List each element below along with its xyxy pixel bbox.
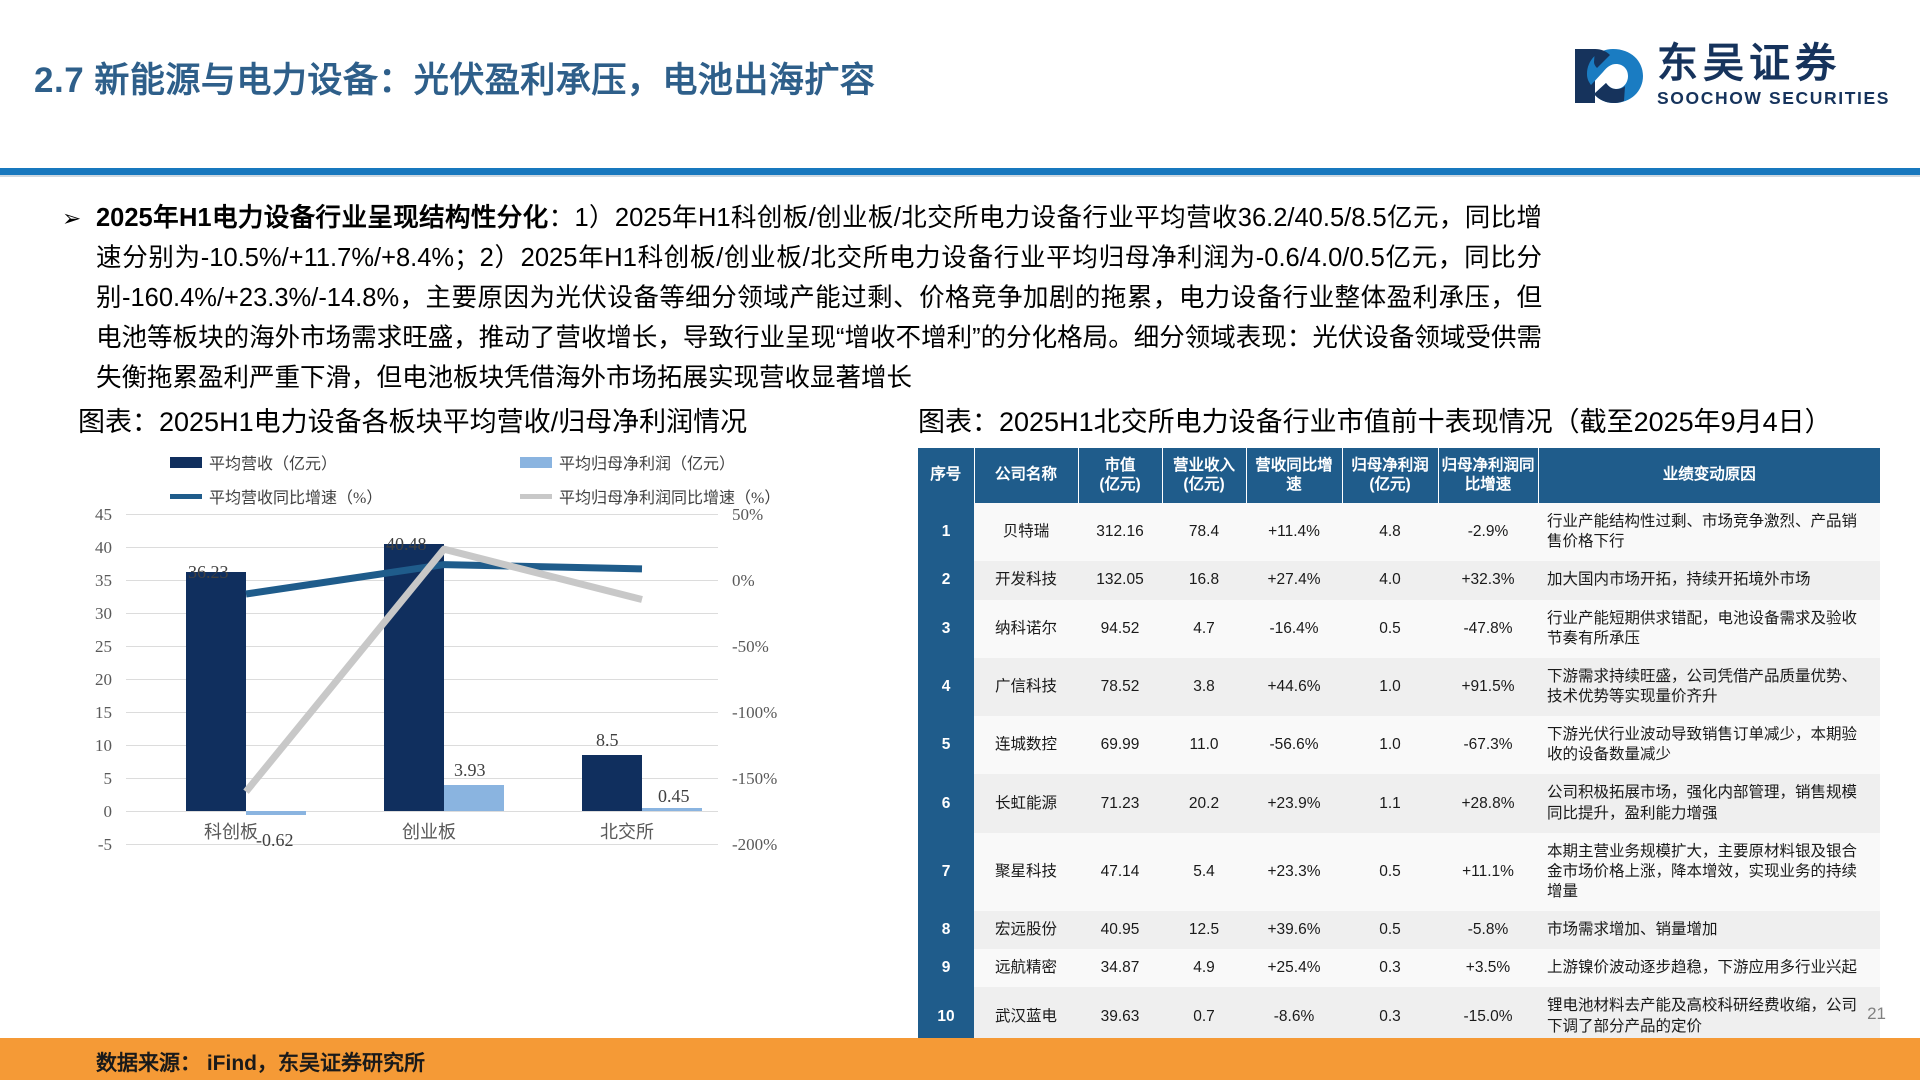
header-divider-primary: [0, 168, 1920, 175]
y-axis-tick: 0: [52, 802, 112, 822]
cell-revenue: 12.5: [1162, 911, 1246, 949]
cell-reason: 公司积极拓展市场，强化内部管理，销售规模同比提升，盈利能力增强: [1538, 774, 1880, 832]
data-label-profit-kechuang: -0.62: [256, 830, 294, 851]
col-header-net-profit-growth: 归母净利润同比增速: [1438, 448, 1538, 503]
cell-market-cap: 40.95: [1078, 911, 1162, 949]
cell-net-profit-growth: +32.3%: [1438, 561, 1538, 599]
slide-root: 2.7 新能源与电力设备：光伏盈利承压，电池出海扩容 东吴证券 SOOCHOW …: [0, 0, 1920, 1080]
y2-axis-tick: -150%: [732, 769, 822, 789]
cell-net-profit: 0.3: [1342, 949, 1438, 987]
cell-net-profit-growth: -15.0%: [1438, 987, 1538, 1045]
chart-plot-area: 45 40 35 30 25 20 15 10 5 0 -5 50% 0% -5…: [126, 514, 718, 844]
cell-index: 1: [918, 503, 974, 561]
legend-swatch-profit-growth: [520, 494, 552, 499]
cell-revenue: 11.0: [1162, 716, 1246, 774]
cell-revenue: 78.4: [1162, 503, 1246, 561]
cell-reason: 下游需求持续旺盛，公司凭借产品质量优势、技术优势等实现量价齐升: [1538, 658, 1880, 716]
cell-revenue: 4.9: [1162, 949, 1246, 987]
cell-company: 连城数控: [974, 716, 1078, 774]
cell-index: 7: [918, 833, 974, 911]
cell-revenue-growth: +23.9%: [1246, 774, 1342, 832]
chart-caption: 图表：2025H1电力设备各板块平均营收/归母净利润情况: [78, 400, 747, 439]
cell-market-cap: 34.87: [1078, 949, 1162, 987]
cell-market-cap: 312.16: [1078, 503, 1162, 561]
cell-reason: 本期主营业务规模扩大，主要原材料银及银合金市场价格上涨，降本增效，实现业务的持续…: [1538, 833, 1880, 911]
cell-revenue: 16.8: [1162, 561, 1246, 599]
cell-company: 宏远股份: [974, 911, 1078, 949]
y-axis-tick: 20: [52, 670, 112, 690]
legend-label-avg-profit: 平均归母净利润（亿元）: [559, 450, 735, 474]
data-label-revenue-kechuang: 36.23: [188, 562, 229, 583]
cell-net-profit: 4.8: [1342, 503, 1438, 561]
cell-net-profit-growth: -47.8%: [1438, 600, 1538, 658]
cell-market-cap: 39.63: [1078, 987, 1162, 1045]
cell-net-profit: 0.5: [1342, 600, 1438, 658]
cell-net-profit-growth: +91.5%: [1438, 658, 1538, 716]
page-number: 21: [1867, 1004, 1886, 1024]
legend-item-avg-profit: 平均归母净利润（亿元）: [520, 450, 735, 474]
cell-net-profit-growth: +3.5%: [1438, 949, 1538, 987]
table-row: 2 开发科技 132.05 16.8 +27.4% 4.0 +32.3% 加大国…: [918, 561, 1880, 599]
cell-revenue-growth: +23.3%: [1246, 833, 1342, 911]
y2-axis-tick: -200%: [732, 835, 822, 855]
table-row: 9 远航精密 34.87 4.9 +25.4% 0.3 +3.5% 上游镍价波动…: [918, 949, 1880, 987]
col-header-market-cap: 市值(亿元): [1078, 448, 1162, 503]
y-axis-tick: 5: [52, 769, 112, 789]
cell-net-profit: 1.0: [1342, 658, 1438, 716]
cell-revenue: 3.8: [1162, 658, 1246, 716]
table-caption: 图表：2025H1北交所电力设备行业市值前十表现情况（截至2025年9月4日）: [918, 400, 1832, 439]
cell-net-profit-growth: -67.3%: [1438, 716, 1538, 774]
logo-chinese-name: 东吴证券: [1657, 42, 1890, 85]
company-logo: 东吴证券 SOOCHOW SECURITIES: [1573, 42, 1890, 109]
table-row: 6 长虹能源 71.23 20.2 +23.9% 1.1 +28.8% 公司积极…: [918, 774, 1880, 832]
cell-reason: 行业产能结构性过剩、市场竞争激烈、产品销售价格下行: [1538, 503, 1880, 561]
legend-swatch-avg-revenue: [170, 457, 202, 468]
legend-row-1: 平均营收（亿元） 平均归母净利润（亿元）: [170, 450, 860, 474]
legend-swatch-revenue-growth: [170, 494, 202, 499]
cell-company: 聚星科技: [974, 833, 1078, 911]
logo-english-name: SOOCHOW SECURITIES: [1657, 88, 1890, 109]
cell-net-profit: 0.3: [1342, 987, 1438, 1045]
cell-index: 4: [918, 658, 974, 716]
cell-index: 5: [918, 716, 974, 774]
summary-bullet: ➢ 2025年H1电力设备行业呈现结构性分化：1）2025年H1科创板/创业板/…: [62, 198, 1542, 398]
y-axis-tick: 15: [52, 703, 112, 723]
data-label-revenue-beijiaosuo: 8.5: [596, 730, 619, 751]
table-header-row: 序号 公司名称 市值(亿元) 营业收入(亿元) 营收同比增速 归母净利润(亿元)…: [918, 448, 1880, 503]
bullet-arrow-icon: ➢: [62, 198, 96, 398]
y-axis-tick: 25: [52, 637, 112, 657]
cell-index: 10: [918, 987, 974, 1045]
cell-market-cap: 132.05: [1078, 561, 1162, 599]
cell-company: 纳科诺尔: [974, 600, 1078, 658]
col-header-index: 序号: [918, 448, 974, 503]
y-axis-tick: -5: [52, 835, 112, 855]
legend-label-avg-revenue: 平均营收（亿元）: [209, 450, 337, 474]
cell-market-cap: 47.14: [1078, 833, 1162, 911]
cell-revenue-growth: -16.4%: [1246, 600, 1342, 658]
slide-header: 2.7 新能源与电力设备：光伏盈利承压，电池出海扩容 东吴证券 SOOCHOW …: [0, 0, 1920, 172]
y2-axis-tick: 50%: [732, 505, 822, 525]
table-row: 5 连城数控 69.99 11.0 -56.6% 1.0 -67.3% 下游光伏…: [918, 716, 1880, 774]
table-row: 1 贝特瑞 312.16 78.4 +11.4% 4.8 -2.9% 行业产能结…: [918, 503, 1880, 561]
average-revenue-profit-chart: 平均营收（亿元） 平均归母净利润（亿元） 平均营收同比增速（%） 平均归母净利润…: [60, 450, 860, 960]
cell-net-profit-growth: +11.1%: [1438, 833, 1538, 911]
header-divider-secondary: [0, 175, 1920, 177]
cell-market-cap: 71.23: [1078, 774, 1162, 832]
cell-reason: 下游光伏行业波动导致销售订单减少，本期验收的设备数量减少: [1538, 716, 1880, 774]
y-axis-tick: 10: [52, 736, 112, 756]
y-axis-tick: 35: [52, 571, 112, 591]
data-source-note: 数据来源： iFind，东吴证券研究所: [96, 1047, 425, 1077]
col-header-net-profit: 归母净利润(亿元): [1342, 448, 1438, 503]
soochow-logo-icon: [1573, 45, 1645, 107]
cell-index: 3: [918, 600, 974, 658]
cell-reason: 加大国内市场开拓，持续开拓境外市场: [1538, 561, 1880, 599]
y-axis-tick: 30: [52, 604, 112, 624]
cell-company: 武汉蓝电: [974, 987, 1078, 1045]
x-axis-category-beijiaosuo: 北交所: [600, 818, 654, 844]
y-axis-tick: 40: [52, 538, 112, 558]
cell-reason: 锂电池材料去产能及高校科研经费收缩，公司下调了部分产品的定价: [1538, 987, 1880, 1045]
cell-revenue-growth: -56.6%: [1246, 716, 1342, 774]
cell-company: 开发科技: [974, 561, 1078, 599]
cell-revenue-growth: +11.4%: [1246, 503, 1342, 561]
cell-index: 2: [918, 561, 974, 599]
cell-reason: 市场需求增加、销量增加: [1538, 911, 1880, 949]
data-label-revenue-chuangye: 40.48: [386, 534, 427, 555]
cell-market-cap: 78.52: [1078, 658, 1162, 716]
y2-axis-tick: -100%: [732, 703, 822, 723]
table-body: 1 贝特瑞 312.16 78.4 +11.4% 4.8 -2.9% 行业产能结…: [918, 503, 1880, 1046]
cell-net-profit-growth: -5.8%: [1438, 911, 1538, 949]
cell-net-profit-growth: +28.8%: [1438, 774, 1538, 832]
cell-reason: 行业产能短期供求错配，电池设备需求及验收节奏有所承压: [1538, 600, 1880, 658]
table-row: 8 宏远股份 40.95 12.5 +39.6% 0.5 -5.8% 市场需求增…: [918, 911, 1880, 949]
y2-axis-tick: -50%: [732, 637, 822, 657]
cell-market-cap: 69.99: [1078, 716, 1162, 774]
table-header: 序号 公司名称 市值(亿元) 营业收入(亿元) 营收同比增速 归母净利润(亿元)…: [918, 448, 1880, 503]
table-row: 10 武汉蓝电 39.63 0.7 -8.6% 0.3 -15.0% 锂电池材料…: [918, 987, 1880, 1045]
cell-index: 8: [918, 911, 974, 949]
col-header-revenue-growth: 营收同比增速: [1246, 448, 1342, 503]
col-header-company: 公司名称: [974, 448, 1078, 503]
cell-revenue-growth: +44.6%: [1246, 658, 1342, 716]
summary-body: ：1）2025年H1科创板/创业板/北交所电力设备行业平均营收36.2/40.5…: [96, 204, 1542, 392]
y2-axis-tick: 0%: [732, 571, 822, 591]
table-row: 7 聚星科技 47.14 5.4 +23.3% 0.5 +11.1% 本期主营业…: [918, 833, 1880, 911]
line-revenue-growth: [246, 565, 642, 594]
cell-revenue-growth: +27.4%: [1246, 561, 1342, 599]
cell-revenue: 4.7: [1162, 600, 1246, 658]
cell-net-profit: 1.1: [1342, 774, 1438, 832]
top10-market-cap-table: 序号 公司名称 市值(亿元) 营业收入(亿元) 营收同比增速 归母净利润(亿元)…: [918, 448, 1880, 1046]
cell-index: 9: [918, 949, 974, 987]
cell-revenue-growth: -8.6%: [1246, 987, 1342, 1045]
legend-item-avg-revenue: 平均营收（亿元）: [170, 450, 520, 474]
cell-market-cap: 94.52: [1078, 600, 1162, 658]
cell-net-profit-growth: -2.9%: [1438, 503, 1538, 561]
page-title: 2.7 新能源与电力设备：光伏盈利承压，电池出海扩容: [34, 52, 875, 103]
col-header-revenue: 营业收入(亿元): [1162, 448, 1246, 503]
legend-label-revenue-growth: 平均营收同比增速（%）: [209, 484, 382, 508]
x-axis-category-chuangye: 创业板: [402, 818, 456, 844]
cell-net-profit: 0.5: [1342, 911, 1438, 949]
cell-net-profit: 4.0: [1342, 561, 1438, 599]
data-table: 序号 公司名称 市值(亿元) 营业收入(亿元) 营收同比增速 归母净利润(亿元)…: [918, 448, 1880, 1046]
cell-company: 广信科技: [974, 658, 1078, 716]
table-row: 3 纳科诺尔 94.52 4.7 -16.4% 0.5 -47.8% 行业产能短…: [918, 600, 1880, 658]
cell-company: 贝特瑞: [974, 503, 1078, 561]
cell-company: 长虹能源: [974, 774, 1078, 832]
cell-revenue: 0.7: [1162, 987, 1246, 1045]
cell-index: 6: [918, 774, 974, 832]
data-label-profit-chuangye: 3.93: [454, 760, 486, 781]
y-axis-tick: 45: [52, 505, 112, 525]
summary-lead: 2025年H1电力设备行业呈现结构性分化: [96, 204, 549, 232]
data-label-profit-beijiaosuo: 0.45: [658, 786, 690, 807]
cell-revenue: 20.2: [1162, 774, 1246, 832]
gridline: [126, 844, 718, 845]
summary-paragraph: 2025年H1电力设备行业呈现结构性分化：1）2025年H1科创板/创业板/北交…: [96, 198, 1542, 398]
legend-item-revenue-growth: 平均营收同比增速（%）: [170, 484, 520, 508]
cell-revenue-growth: +39.6%: [1246, 911, 1342, 949]
cell-reason: 上游镍价波动逐步趋稳，下游应用多行业兴起: [1538, 949, 1880, 987]
col-header-reason: 业绩变动原因: [1538, 448, 1880, 503]
cell-net-profit: 1.0: [1342, 716, 1438, 774]
cell-revenue-growth: +25.4%: [1246, 949, 1342, 987]
legend-swatch-avg-profit: [520, 457, 552, 468]
cell-net-profit: 0.5: [1342, 833, 1438, 911]
cell-company: 远航精密: [974, 949, 1078, 987]
x-axis-category-kechuang: 科创板: [204, 818, 258, 844]
cell-revenue: 5.4: [1162, 833, 1246, 911]
table-row: 4 广信科技 78.52 3.8 +44.6% 1.0 +91.5% 下游需求持…: [918, 658, 1880, 716]
